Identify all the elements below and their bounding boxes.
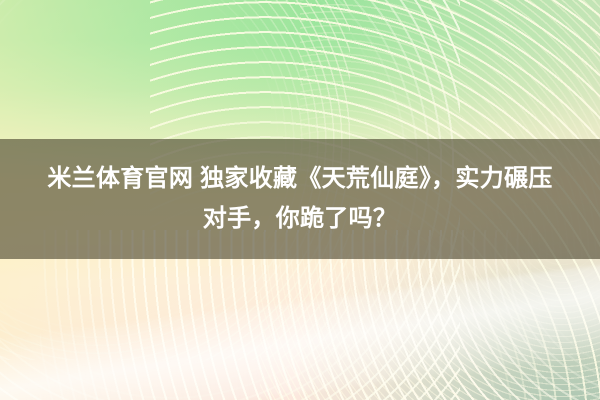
caption-line-1: 米兰体育官网 独家收藏《天荒仙庭》，实力碾压 [47, 159, 552, 199]
caption-overlay-band: 米兰体育官网 独家收藏《天荒仙庭》，实力碾压 对手，你跪了吗？ [0, 139, 600, 259]
promo-banner: 米兰体育官网 独家收藏《天荒仙庭》，实力碾压 对手，你跪了吗？ [0, 0, 600, 400]
caption-line-2: 对手，你跪了吗？ [203, 199, 397, 239]
